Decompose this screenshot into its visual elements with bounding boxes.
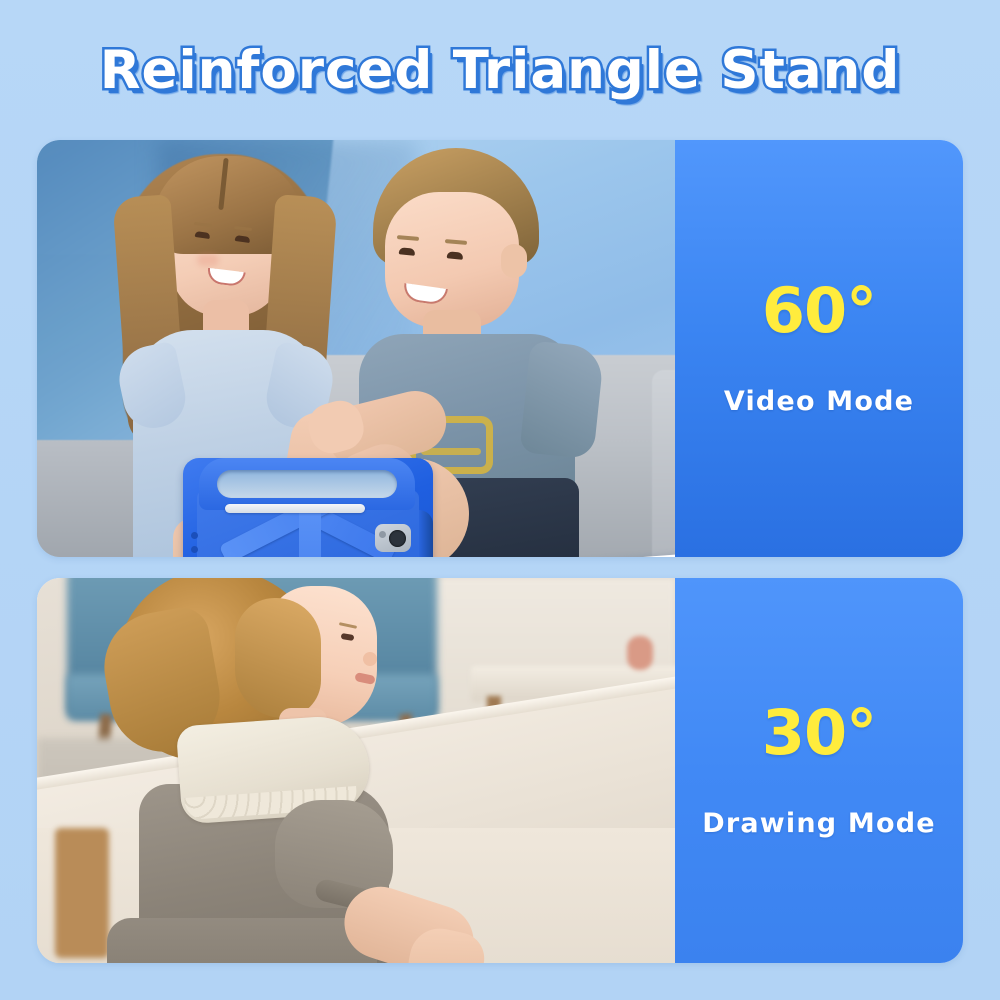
page-title: Reinforced Triangle Stand (100, 40, 901, 101)
feature-card-video-mode: 60° Video Mode (37, 140, 963, 557)
page-title-container: Reinforced Triangle Stand (0, 30, 1000, 110)
case-right-edge (419, 510, 433, 557)
girl2-dress-skirt (107, 918, 377, 963)
angle-value-video: 60° (762, 280, 876, 342)
mode-label-video: Video Mode (724, 386, 914, 417)
girl2-nose (363, 652, 377, 666)
feature-card-drawing-mode: 30° Drawing Mode (37, 578, 963, 963)
angle-value-drawing: 30° (762, 702, 876, 764)
photo-drawing-mode (37, 578, 675, 963)
boy-ear (501, 244, 527, 278)
button-cutout (191, 532, 198, 539)
sofa-armrest (652, 370, 675, 557)
camera-lens (389, 530, 406, 547)
case-handle-opening (217, 470, 397, 498)
product-feature-page: Reinforced Triangle Stand (0, 0, 1000, 1000)
tablet-case-video-mode (183, 440, 433, 557)
child-girl-drawing (67, 578, 397, 963)
info-panel-drawing-mode: 30° Drawing Mode (675, 578, 963, 963)
case-button-cutouts-left (191, 532, 198, 557)
vase-on-table (627, 636, 653, 670)
camera-flash (379, 531, 386, 538)
girl-cheek-blush (197, 254, 219, 266)
boy-tshirt-sleeve (519, 340, 604, 459)
info-panel-video-mode: 60° Video Mode (675, 140, 963, 557)
boy-face (385, 192, 519, 328)
stylus-holder-slot (225, 504, 365, 513)
button-cutout (191, 546, 198, 553)
girl2-hair-curl (235, 598, 321, 718)
photo-video-mode (37, 140, 675, 557)
mode-label-drawing: Drawing Mode (702, 808, 936, 839)
